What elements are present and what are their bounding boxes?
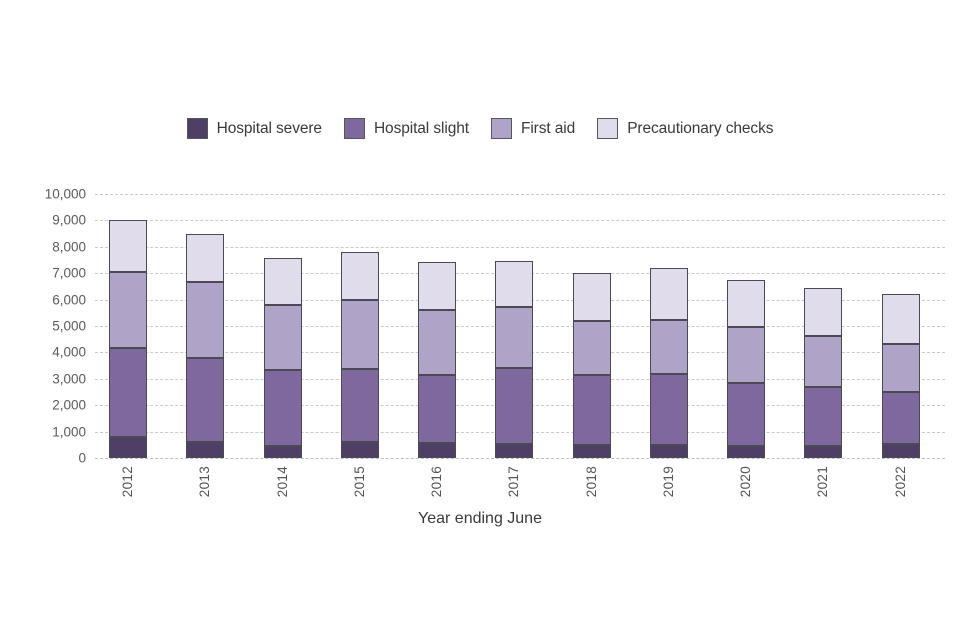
y-axis-tick-label: 6,000 [0,292,86,307]
legend-swatch-icon [597,118,618,139]
y-axis-tick-label: 0 [0,451,86,466]
legend-item-label: Precautionary checks [627,120,773,138]
bar-segment[interactable] [264,370,302,446]
bar-segment[interactable] [650,320,688,374]
legend-item[interactable]: Hospital slight [344,118,469,139]
bar-segment[interactable] [186,358,224,442]
bar-segment[interactable] [727,280,765,326]
y-axis-tick-label: 8,000 [0,239,86,254]
x-axis-tick-label: 2021 [815,466,835,497]
bar-stack[interactable] [882,194,920,458]
bar-segment[interactable] [882,344,920,391]
bar-stack[interactable] [804,194,842,458]
bar-segment[interactable] [418,310,456,375]
x-axis-tick-label: 2014 [275,466,295,497]
stacked-bar-chart: Hospital severeHospital slightFirst aidP… [0,0,960,640]
legend-item-label: First aid [521,120,575,138]
bar-segment[interactable] [804,336,842,387]
legend-item[interactable]: Precautionary checks [597,118,773,139]
bar-segment[interactable] [650,374,688,445]
legend-item[interactable]: First aid [491,118,575,139]
x-axis-tick-label: 2016 [429,466,449,497]
x-axis-baseline [95,458,945,459]
bar-segment[interactable] [882,444,920,458]
bar-segment[interactable] [264,305,302,370]
bar-segment[interactable] [882,294,920,344]
bar-segment[interactable] [264,446,302,458]
bar-segment[interactable] [573,321,611,376]
bar-segment[interactable] [495,444,533,458]
x-axis-tick-label: 2015 [352,466,372,497]
bar-segment[interactable] [804,446,842,458]
bar-segment[interactable] [109,272,147,349]
bar-stack[interactable] [109,194,147,458]
bar-segment[interactable] [341,252,379,299]
bar-segment[interactable] [804,288,842,337]
x-axis-tick-label: 2019 [661,466,681,497]
bar-segment[interactable] [650,445,688,458]
bar-stack[interactable] [264,194,302,458]
bar-segment[interactable] [573,375,611,445]
bar-stack[interactable] [650,194,688,458]
bar-stack[interactable] [573,194,611,458]
legend-swatch-icon [491,118,512,139]
bar-stack[interactable] [418,194,456,458]
bar-segment[interactable] [804,387,842,446]
legend-item-label: Hospital slight [374,120,469,138]
bar-stack[interactable] [341,194,379,458]
bar-stack[interactable] [495,194,533,458]
bar-segment[interactable] [495,261,533,307]
y-axis-tick-label: 1,000 [0,424,86,439]
legend-item[interactable]: Hospital severe [187,118,322,139]
legend-swatch-icon [344,118,365,139]
bar-stack[interactable] [186,194,224,458]
bar-segment[interactable] [418,443,456,458]
y-axis-tick-label: 3,000 [0,371,86,386]
y-axis-tick-label: 5,000 [0,319,86,334]
x-axis-tick-label: 2013 [197,466,217,497]
chart-legend: Hospital severeHospital slightFirst aidP… [0,118,960,139]
bar-segment[interactable] [109,437,147,458]
y-axis-tick-label: 9,000 [0,213,86,228]
bar-segment[interactable] [495,307,533,368]
bar-segment[interactable] [186,442,224,458]
bar-segment[interactable] [341,300,379,369]
bar-segment[interactable] [186,282,224,357]
bar-segment[interactable] [264,258,302,305]
bar-segment[interactable] [882,392,920,445]
bar-segment[interactable] [109,220,147,271]
y-axis-tick-label: 2,000 [0,398,86,413]
y-axis-tick-label: 7,000 [0,266,86,281]
bar-segment[interactable] [109,348,147,436]
bar-segment[interactable] [341,442,379,458]
legend-item-label: Hospital severe [217,120,322,138]
bar-segment[interactable] [573,273,611,321]
bar-segment[interactable] [186,234,224,282]
x-axis-tick-label: 2017 [506,466,526,497]
y-axis-tick-labels: 10,0009,0008,0007,0006,0005,0004,0003,00… [0,194,86,458]
bar-segment[interactable] [727,446,765,458]
bar-segment[interactable] [573,445,611,458]
x-axis-tick-label: 2018 [584,466,604,497]
bar-segment[interactable] [495,368,533,444]
bar-segment[interactable] [727,327,765,383]
bar-segment[interactable] [418,262,456,310]
x-axis-title: Year ending June [0,510,960,528]
plot-area [95,194,945,458]
x-axis-tick-label: 2022 [893,466,913,497]
y-axis-tick-label: 4,000 [0,345,86,360]
bar-segment[interactable] [341,369,379,442]
bar-stack[interactable] [727,194,765,458]
x-axis-tick-label: 2020 [738,466,758,497]
y-axis-tick-label: 10,000 [0,187,86,202]
legend-swatch-icon [187,118,208,139]
x-axis-tick-label: 2012 [120,466,140,497]
bar-segment[interactable] [727,383,765,446]
bar-segment[interactable] [418,375,456,443]
bar-segment[interactable] [650,268,688,320]
